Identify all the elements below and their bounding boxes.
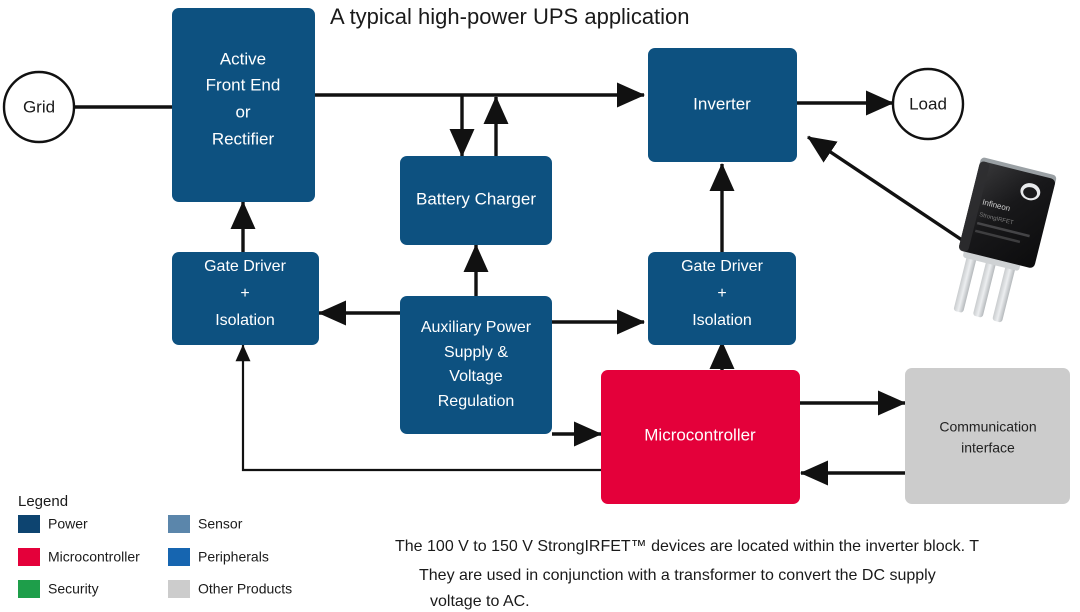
block-microcontroller[interactable]: Microcontroller — [601, 370, 800, 504]
load-label: Load — [909, 94, 947, 113]
microcontroller-label: Microcontroller — [644, 425, 756, 444]
caption-line-3: voltage to AC. — [430, 593, 530, 610]
caption: The 100 V to 150 V StrongIRFET™ devices … — [395, 538, 979, 610]
wire-mosfet-callout-to-inverter — [808, 137, 962, 240]
page-title: A typical high-power UPS application — [330, 4, 690, 29]
battery-charger-label: Battery Charger — [416, 189, 536, 208]
rectifier-label-line-1: Active — [220, 49, 266, 68]
mosfet-to247-package-image: Infineon StrongIRFET — [944, 157, 1057, 327]
aux-power-box — [400, 296, 552, 434]
gate-driver-right-label-line-3: Isolation — [692, 312, 752, 329]
gate-driver-left-label-line-2: + — [240, 285, 249, 302]
block-battery-charger[interactable]: Battery Charger — [400, 156, 552, 245]
legend: Legend Power Sensor Microcontroller Peri… — [18, 493, 292, 598]
ups-block-diagram: Grid Load Active Front End or Rectifier … — [0, 0, 1080, 612]
block-gate-driver-right[interactable]: Gate Driver + Isolation — [648, 252, 796, 345]
legend-item-other-products: Other Products — [168, 580, 292, 598]
legend-item-peripherals: Peripherals — [168, 548, 269, 566]
legend-swatch-microcontroller — [18, 548, 40, 566]
legend-swatch-security — [18, 580, 40, 598]
block-inverter[interactable]: Inverter — [648, 48, 797, 162]
block-gate-driver-left[interactable]: Gate Driver + Isolation — [172, 252, 319, 345]
legend-item-microcontroller: Microcontroller — [18, 548, 140, 566]
aux-power-label-line-3: Voltage — [449, 368, 502, 385]
rectifier-label-line-3: or — [235, 102, 250, 121]
rectifier-label-line-2: Front End — [206, 75, 281, 94]
block-aux-power-supply[interactable]: Auxiliary Power Supply & Voltage Regulat… — [400, 296, 552, 434]
gate-driver-right-label-line-1: Gate Driver — [681, 258, 763, 275]
node-load: Load — [893, 69, 963, 139]
diagram-canvas: Grid Load Active Front End or Rectifier … — [0, 0, 1080, 612]
grid-label: Grid — [23, 97, 55, 116]
legend-label-peripherals: Peripherals — [198, 549, 269, 565]
communication-label-line-1: Communication — [939, 419, 1036, 435]
legend-label-microcontroller: Microcontroller — [48, 549, 140, 565]
communication-label-line-2: interface — [961, 440, 1015, 456]
legend-swatch-sensor — [168, 515, 190, 533]
gate-driver-left-label-line-3: Isolation — [215, 312, 275, 329]
legend-item-power: Power — [18, 515, 88, 533]
aux-power-label-line-4: Regulation — [438, 393, 515, 410]
aux-power-label-line-2: Supply & — [444, 344, 508, 361]
block-rectifier[interactable]: Active Front End or Rectifier — [172, 8, 315, 202]
rectifier-label-line-4: Rectifier — [212, 129, 275, 148]
inverter-label: Inverter — [693, 94, 751, 113]
caption-line-2: They are used in conjunction with a tran… — [419, 567, 936, 584]
legend-swatch-power — [18, 515, 40, 533]
legend-label-power: Power — [48, 516, 88, 532]
legend-item-security: Security — [18, 580, 99, 598]
legend-heading: Legend — [18, 493, 68, 510]
aux-power-label-line-1: Auxiliary Power — [421, 319, 532, 336]
node-grid: Grid — [4, 72, 74, 142]
legend-label-other-products: Other Products — [198, 581, 292, 597]
legend-label-security: Security — [48, 581, 99, 597]
gate-driver-right-label-line-2: + — [717, 285, 726, 302]
caption-line-1: The 100 V to 150 V StrongIRFET™ devices … — [395, 538, 979, 555]
block-communication-interface[interactable]: Communication interface — [905, 368, 1070, 504]
legend-swatch-peripherals — [168, 548, 190, 566]
legend-swatch-other-products — [168, 580, 190, 598]
legend-item-sensor: Sensor — [168, 515, 243, 533]
communication-box — [905, 368, 1070, 504]
legend-label-sensor: Sensor — [198, 516, 243, 532]
gate-driver-left-label-line-1: Gate Driver — [204, 258, 286, 275]
